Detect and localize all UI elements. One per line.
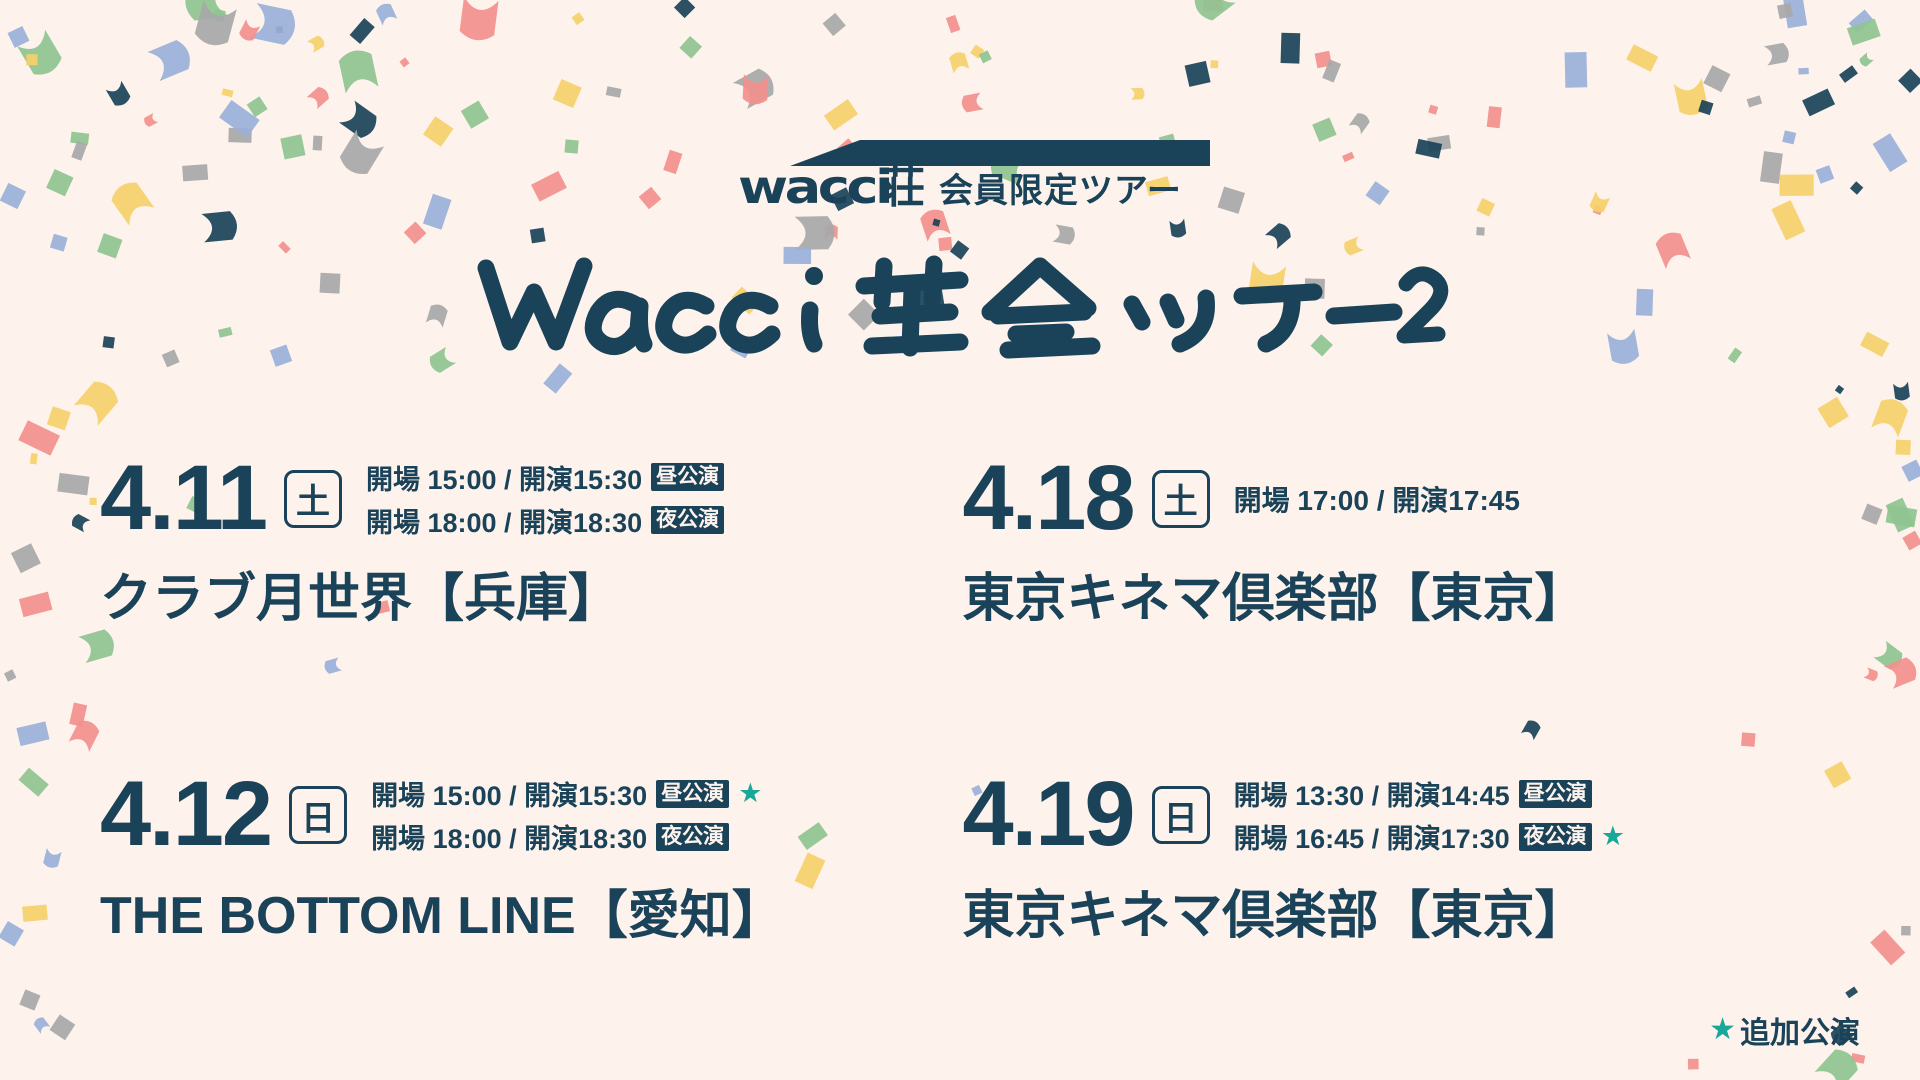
legend-additional-show: ★ 追加公演 (1709, 1008, 1860, 1052)
show-type-badge: 夜公演 (656, 823, 729, 851)
show-time-text: 開場 15:00 / 開演15:30 (371, 774, 647, 813)
schedule-block: 4.12日開場 15:00 / 開演15:30昼公演★開場 18:00 / 開演… (100, 771, 963, 947)
schedule-block-header: 4.18土開場 17:00 / 開演17:45 (963, 455, 1826, 542)
show-time-text: 開場 16:45 / 開演17:30 (1234, 817, 1510, 856)
day-of-week-badge: 土 (284, 470, 342, 528)
venue-name: 東京キネマ倶楽部【東京】 (963, 873, 1826, 948)
show-type-badge: 昼公演 (1519, 780, 1592, 808)
show-time-row: 開場 17:00 / 開演17:45 (1234, 479, 1520, 519)
show-time-text: 開場 18:00 / 開演18:30 (371, 817, 647, 856)
schedule-block-header: 4.12日開場 15:00 / 開演15:30昼公演★開場 18:00 / 開演… (100, 771, 963, 858)
venue-name: THE BOTTOM LINE【愛知】 (100, 873, 963, 948)
star-icon: ★ (1709, 1015, 1736, 1045)
show-time-row: 開場 13:30 / 開演14:45昼公演 (1234, 774, 1625, 813)
show-time-row: 開場 16:45 / 開演17:30夜公演★ (1234, 817, 1625, 856)
venue-name: クラブ月世界【兵庫】 (100, 556, 963, 631)
logo-wordmark: wacci (738, 164, 890, 210)
schedule-block: 4.18土開場 17:00 / 開演17:45東京キネマ倶楽部【東京】 (963, 455, 1826, 631)
day-of-week-badge: 日 (289, 786, 347, 844)
page-title (0, 250, 1920, 365)
show-time-text: 開場 15:00 / 開演15:30 (366, 458, 642, 497)
schedule-block: 4.19日開場 13:30 / 開演14:45昼公演開場 16:45 / 開演1… (963, 771, 1826, 947)
show-date: 4.19 (963, 771, 1134, 858)
show-type-badge: 夜公演 (651, 506, 724, 534)
show-time-row: 開場 18:00 / 開演18:30夜公演 (371, 817, 762, 856)
show-times: 開場 13:30 / 開演14:45昼公演開場 16:45 / 開演17:30夜… (1234, 774, 1625, 856)
show-times: 開場 15:00 / 開演15:30昼公演★開場 18:00 / 開演18:30… (371, 774, 762, 856)
show-type-badge: 昼公演 (656, 780, 729, 808)
show-time-text: 開場 18:00 / 開演18:30 (366, 501, 642, 540)
day-of-week-badge: 土 (1152, 470, 1210, 528)
show-times: 開場 15:00 / 開演15:30昼公演開場 18:00 / 開演18:30夜… (366, 458, 724, 540)
show-time-row: 開場 15:00 / 開演15:30昼公演★ (371, 774, 762, 813)
show-time-text: 開場 17:00 / 開演17:45 (1234, 479, 1520, 519)
title-artwork (460, 250, 1460, 360)
schedule-block: 4.11土開場 15:00 / 開演15:30昼公演開場 18:00 / 開演1… (100, 455, 963, 631)
show-time-row: 開場 15:00 / 開演15:30昼公演 (366, 458, 724, 497)
tour-schedule: 4.11土開場 15:00 / 開演15:30昼公演開場 18:00 / 開演1… (0, 455, 1920, 948)
show-type-badge: 昼公演 (651, 463, 724, 491)
schedule-block-header: 4.11土開場 15:00 / 開演15:30昼公演開場 18:00 / 開演1… (100, 455, 963, 542)
show-times: 開場 17:00 / 開演17:45 (1234, 479, 1520, 519)
additional-show-star-icon: ★ (738, 780, 762, 807)
show-time-text: 開場 13:30 / 開演14:45 (1234, 774, 1510, 813)
additional-show-star-icon: ★ (1601, 823, 1625, 850)
show-type-badge: 夜公演 (1519, 823, 1592, 851)
show-date: 4.11 (100, 455, 266, 542)
day-of-week-badge: 日 (1152, 786, 1210, 844)
tour-logo: wacci 荘 会員限定ツアー (0, 140, 1920, 210)
show-date: 4.18 (963, 455, 1134, 542)
show-date: 4.12 (100, 771, 271, 858)
legend-label: 追加公演 (1740, 1008, 1860, 1052)
venue-name: 東京キネマ倶楽部【東京】 (963, 556, 1826, 631)
schedule-block-header: 4.19日開場 13:30 / 開演14:45昼公演開場 16:45 / 開演1… (963, 771, 1826, 858)
show-time-row: 開場 18:00 / 開演18:30夜公演 (366, 501, 724, 540)
logo-subtitle: 会員限定ツアー (939, 174, 1182, 210)
